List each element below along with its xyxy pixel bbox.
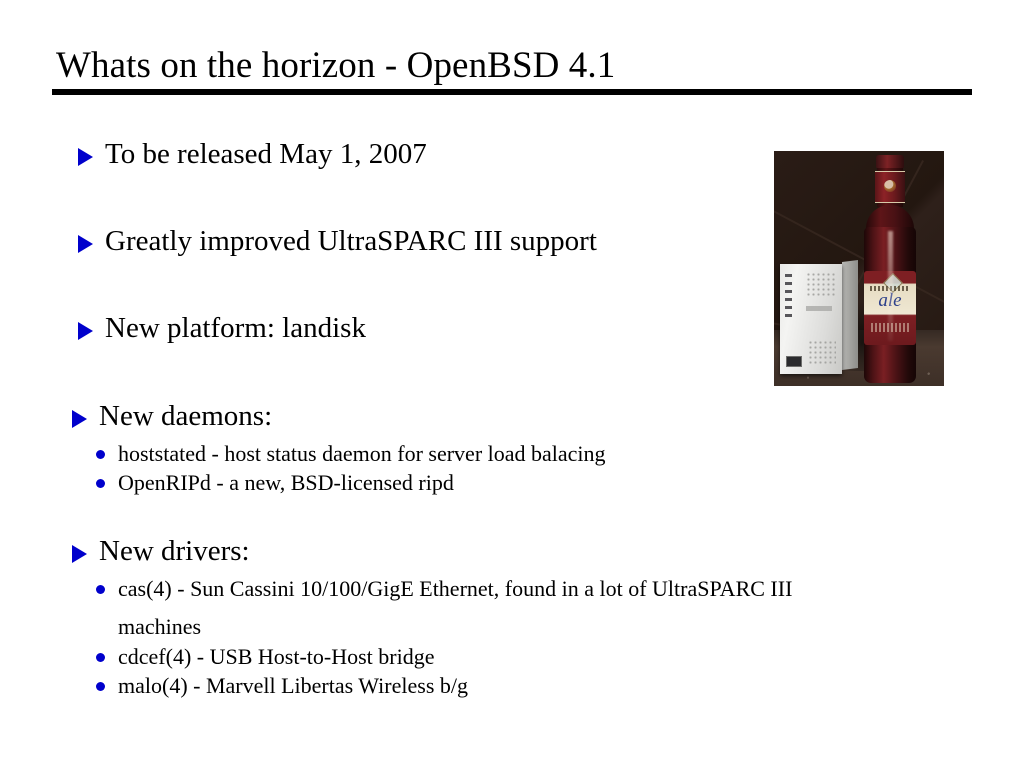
triangle-bullet-icon <box>78 235 93 253</box>
triangle-bullet-icon <box>72 410 87 428</box>
landisk-led-indicators <box>785 274 793 324</box>
list-item: malo(4) - Marvell Libertas Wireless b/g <box>96 672 468 699</box>
bullet-label: New platform: landisk <box>105 311 366 345</box>
bullet-item-new-daemons: New daemons: <box>72 399 272 433</box>
dot-bullet-icon <box>96 479 105 488</box>
beer-bottle: ale <box>858 155 922 383</box>
list-item-label: cdcef(4) - USB Host-to-Host bridge <box>118 643 435 670</box>
triangle-bullet-icon <box>78 322 93 340</box>
list-item: OpenRIPd - a new, BSD-licensed ripd <box>96 469 454 496</box>
list-item-label: malo(4) - Marvell Libertas Wireless b/g <box>118 672 468 699</box>
dot-bullet-icon <box>96 450 105 459</box>
bullet-item-ultrasparc: Greatly improved UltraSPARC III support <box>78 224 597 258</box>
triangle-bullet-icon <box>72 545 87 563</box>
page-title: Whats on the horizon - OpenBSD 4.1 <box>56 44 615 88</box>
dot-bullet-icon <box>96 585 105 594</box>
led-indicator <box>785 306 792 309</box>
presentation-slide: Whats on the horizon - OpenBSD 4.1 To be… <box>0 0 1024 768</box>
led-indicator <box>785 282 792 285</box>
bullet-label: To be released May 1, 2007 <box>105 137 427 171</box>
list-item-label: hoststated - host status daemon for serv… <box>118 440 606 467</box>
dot-bullet-icon <box>96 682 105 691</box>
triangle-bullet-icon <box>78 148 93 166</box>
dot-bullet-icon <box>96 653 105 662</box>
list-item-label: OpenRIPd - a new, BSD-licensed ripd <box>118 469 454 496</box>
list-item: hoststated - host status daemon for serv… <box>96 440 606 467</box>
landisk-model-label <box>806 306 832 311</box>
landisk-side-panel <box>842 260 858 370</box>
bullet-item-new-drivers: New drivers: <box>72 534 250 568</box>
title-underline-rule <box>52 89 972 95</box>
bottle-cap <box>876 155 904 168</box>
landisk-power-port <box>786 356 802 367</box>
bullet-label: New daemons: <box>99 399 272 433</box>
bullet-item-landisk: New platform: landisk <box>78 311 366 345</box>
bottle-neck-label <box>875 171 905 203</box>
brewery-crest-icon <box>884 180 896 192</box>
led-indicator <box>785 290 792 293</box>
list-item-continuation: machines <box>118 613 201 640</box>
landisk-vent-holes <box>806 272 836 298</box>
list-item: cdcef(4) - USB Host-to-Host bridge <box>96 643 435 670</box>
bullet-item-release-date: To be released May 1, 2007 <box>78 137 427 171</box>
led-indicator <box>785 314 792 317</box>
led-indicator <box>785 298 792 301</box>
bullet-label: Greatly improved UltraSPARC III support <box>105 224 597 258</box>
landisk-and-beer-photo: ale <box>774 151 944 386</box>
bullet-label: New drivers: <box>99 534 250 568</box>
landisk-device <box>780 264 842 374</box>
bottle-highlight <box>888 231 893 341</box>
list-item-label: cas(4) - Sun Cassini 10/100/GigE Etherne… <box>118 575 792 602</box>
led-indicator <box>785 274 792 277</box>
list-item: cas(4) - Sun Cassini 10/100/GigE Etherne… <box>96 575 792 602</box>
landisk-vent-holes <box>808 340 836 366</box>
photo-scene: ale <box>774 151 944 386</box>
